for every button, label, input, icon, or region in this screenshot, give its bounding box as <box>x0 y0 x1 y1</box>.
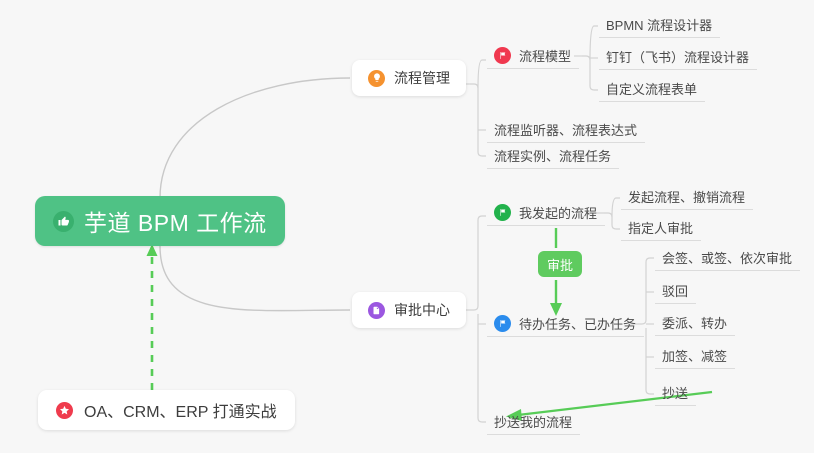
leaf-reject[interactable]: 驳回 <box>655 278 696 304</box>
link-model-to-bpmn <box>590 26 598 60</box>
document-icon <box>368 302 385 319</box>
leaf-start-cancel-process[interactable]: 发起流程、撤销流程 <box>621 184 753 210</box>
node-process-model[interactable]: 流程模型 <box>487 43 579 69</box>
leaf-label: 委派、转办 <box>662 313 727 332</box>
leaf-label: 发起流程、撤销流程 <box>628 187 745 206</box>
leaf-label: 流程监听器、流程表达式 <box>494 120 637 139</box>
leaf-delegate-transfer[interactable]: 委派、转办 <box>655 310 735 336</box>
link-ac-bracket2 <box>478 314 486 422</box>
lightbulb-icon <box>368 70 385 87</box>
leaf-custom-process-form[interactable]: 自定义流程表单 <box>599 76 705 102</box>
leaf-cc-to-me-process[interactable]: 抄送我的流程 <box>487 409 580 435</box>
footer-node-label: OA、CRM、ERP 打通实战 <box>84 398 277 422</box>
link-model-bracket <box>582 56 598 90</box>
node-my-started-process[interactable]: 我发起的流程 <box>487 200 605 226</box>
leaf-bpmn-designer[interactable]: BPMN 流程设计器 <box>599 12 720 38</box>
leaf-label: BPMN 流程设计器 <box>606 15 712 34</box>
leaf-label: 自定义流程表单 <box>606 79 697 98</box>
footer-node-oa-crm-erp[interactable]: OA、CRM、ERP 打通实战 <box>38 390 295 430</box>
flag-icon <box>494 204 511 221</box>
approval-badge: 审批 <box>538 251 582 277</box>
leaf-process-instance-task[interactable]: 流程实例、流程任务 <box>487 143 619 169</box>
link-root-to-process-management <box>160 78 350 198</box>
link-root-to-approval-center <box>160 246 350 311</box>
branch-node-approval-center[interactable]: 审批中心 <box>352 292 466 328</box>
leaf-label: 流程实例、流程任务 <box>494 146 611 165</box>
branch-label: 流程管理 <box>394 68 450 88</box>
branch-node-process-management[interactable]: 流程管理 <box>352 60 466 96</box>
link-mine-to-start <box>612 198 620 217</box>
thumbs-up-icon <box>53 211 74 232</box>
link-todo-bracket2 <box>646 328 654 394</box>
root-node[interactable]: 芋道 BPM 工作流 <box>35 196 285 246</box>
leaf-label: 驳回 <box>662 281 688 300</box>
star-icon <box>56 402 73 419</box>
link-footer-to-root <box>147 244 158 390</box>
leaf-label: 会签、或签、依次审批 <box>662 248 792 267</box>
link-ac-bracket <box>470 216 486 310</box>
branch-label: 审批中心 <box>394 300 450 320</box>
leaf-designated-approver[interactable]: 指定人审批 <box>621 215 701 241</box>
node-todo-done-tasks[interactable]: 待办任务、已办任务 <box>487 311 644 337</box>
leaf-label: 抄送 <box>662 383 688 402</box>
leaf-label: 抄送我的流程 <box>494 412 572 431</box>
link-pm-to-model <box>478 60 486 88</box>
node-label: 我发起的流程 <box>519 203 597 222</box>
approval-badge-label: 审批 <box>547 255 573 274</box>
flag-icon <box>494 47 511 64</box>
leaf-add-remove-sign[interactable]: 加签、减签 <box>655 343 735 369</box>
mindmap-canvas: 芋道 BPM 工作流 OA、CRM、ERP 打通实战 流程管理 流程模型 BPM… <box>0 0 814 453</box>
leaf-countersign-or-sequential[interactable]: 会签、或签、依次审批 <box>655 245 800 271</box>
leaf-label: 指定人审批 <box>628 218 693 237</box>
root-label: 芋道 BPM 工作流 <box>84 204 267 238</box>
leaf-label: 钉钉（飞书）流程设计器 <box>606 47 749 66</box>
flag-icon <box>494 315 511 332</box>
leaf-process-listener-expression[interactable]: 流程监听器、流程表达式 <box>487 117 645 143</box>
leaf-label: 加签、减签 <box>662 346 727 365</box>
link-pm-bracket <box>470 84 486 156</box>
node-label: 流程模型 <box>519 46 571 65</box>
leaf-dingtalk-feishu-designer[interactable]: 钉钉（飞书）流程设计器 <box>599 44 757 70</box>
leaf-carbon-copy[interactable]: 抄送 <box>655 380 696 406</box>
link-mine-bracket <box>604 213 620 229</box>
node-label: 待办任务、已办任务 <box>519 314 636 333</box>
